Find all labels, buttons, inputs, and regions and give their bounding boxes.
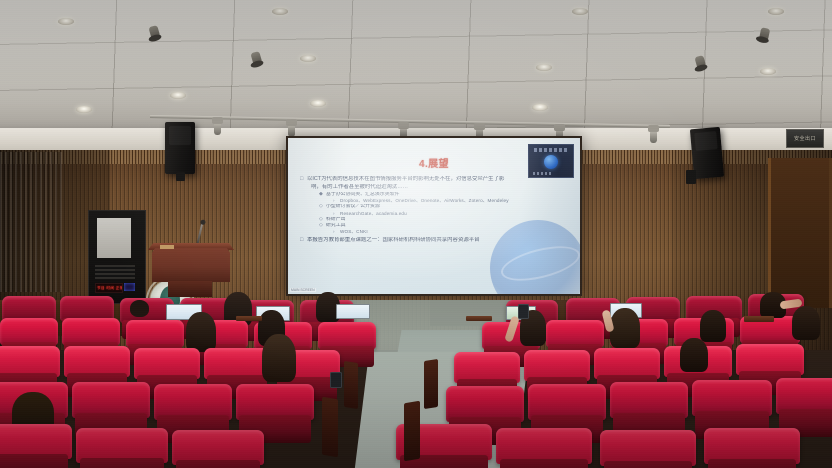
lecture-hall-photo: 安全出口 4.展望 □以ICT为代表的信息技术在图书情报服务平台的影响无处不在，… xyxy=(0,0,832,468)
rack-paper-sheet xyxy=(97,218,131,258)
logo-top-bars xyxy=(534,148,568,152)
logo-globe-icon xyxy=(544,155,558,169)
hair xyxy=(262,334,296,382)
downlight-icon xyxy=(760,68,776,75)
bullet-text: ResearchGate、academia.edu xyxy=(340,211,407,216)
bullet-text: 科研产出 xyxy=(326,217,346,222)
seat-armrest xyxy=(424,359,438,409)
conference-logo-icon xyxy=(528,144,574,178)
projection-screen: 4.展望 □以ICT为代表的信息技术在图书情报服务平台的影响无处不在，对信息受众… xyxy=(286,136,582,296)
bullet-text: 以ICT为代表的信息技术在图书情报服务平台的影响无处不在，对信息受众产生了影 xyxy=(307,176,504,182)
hair xyxy=(610,308,640,348)
wall-speaker-left xyxy=(165,122,195,174)
folding-desk[interactable] xyxy=(744,316,774,322)
hair xyxy=(680,338,708,372)
projected-slide: 4.展望 □以ICT为代表的信息技术在图书情报服务平台的影响无处不在，对信息受众… xyxy=(288,138,580,294)
laptop xyxy=(336,304,370,319)
seat[interactable] xyxy=(76,428,168,468)
seat-armrest xyxy=(344,361,358,409)
head xyxy=(130,300,149,317)
bullet-text: 小型研讨会议／公开资源 xyxy=(326,204,380,209)
track-spotlight-icon xyxy=(650,131,657,143)
downlight-icon xyxy=(58,18,74,25)
bullet-marker: › xyxy=(333,229,340,235)
seat[interactable] xyxy=(600,430,696,468)
podium-name-plate xyxy=(160,245,174,249)
speaker-bracket-right xyxy=(686,170,696,184)
bullet-marker: ◇ xyxy=(319,204,326,210)
bullet-marker: □ xyxy=(300,237,307,244)
track-spotlight-icon xyxy=(214,123,221,135)
bullet-text: WOS、CNKI xyxy=(340,229,368,234)
downlight-icon xyxy=(572,8,588,15)
hair xyxy=(792,306,820,340)
folding-desk[interactable] xyxy=(466,316,492,321)
downlight-icon xyxy=(170,92,186,99)
seat-armrest xyxy=(322,397,338,458)
folding-desk[interactable] xyxy=(236,316,262,321)
hair xyxy=(700,310,726,342)
bullet-marker: □ xyxy=(300,176,307,183)
phone[interactable] xyxy=(518,304,529,319)
seat[interactable] xyxy=(172,430,264,468)
bullet-text: 响，有的工作者甚至被时代迫近淘汰…… xyxy=(311,184,408,190)
ceiling-spotlight-icon xyxy=(759,27,771,42)
seat-armrest xyxy=(404,401,420,462)
bullet-text: 基于办公协同类、汇总演示类软件 xyxy=(326,192,399,197)
logo-bottom-bars xyxy=(533,172,551,175)
downlight-icon xyxy=(76,106,92,113)
downlight-icon xyxy=(532,104,548,111)
bullet-marker: ◇ xyxy=(319,223,326,229)
slide-bullet: 响，有的工作者甚至被时代迫近淘汰…… xyxy=(311,184,572,191)
downlight-icon xyxy=(536,64,552,71)
bullet-marker: ◆ xyxy=(319,192,326,198)
exit-sign-label: 安全出口 xyxy=(794,135,816,142)
hair xyxy=(186,312,216,352)
downlight-icon xyxy=(310,100,326,107)
seat[interactable] xyxy=(704,428,800,468)
phone[interactable] xyxy=(330,372,342,388)
bullet-text: Dropbox、WebExpress、OneDrive、Onenote、AirW… xyxy=(340,198,509,203)
speaker-bracket-left xyxy=(176,172,185,181)
downlight-icon xyxy=(768,8,784,15)
bullet-text: 研究工具 xyxy=(326,223,346,228)
stage-curtain-left xyxy=(0,152,62,292)
downlight-icon xyxy=(300,55,316,62)
bullet-text: 本报告为教育部重点课题之一：国家科研机构科研协同共享内容资源平台 xyxy=(307,237,480,243)
downlight-icon xyxy=(272,8,288,15)
seat[interactable] xyxy=(0,424,72,468)
exit-sign: 安全出口 xyxy=(786,129,824,148)
seat[interactable] xyxy=(496,428,592,468)
slide-bullet: □以ICT为代表的信息技术在图书情报服务平台的影响无处不在，对信息受众产生了影 xyxy=(300,176,572,183)
